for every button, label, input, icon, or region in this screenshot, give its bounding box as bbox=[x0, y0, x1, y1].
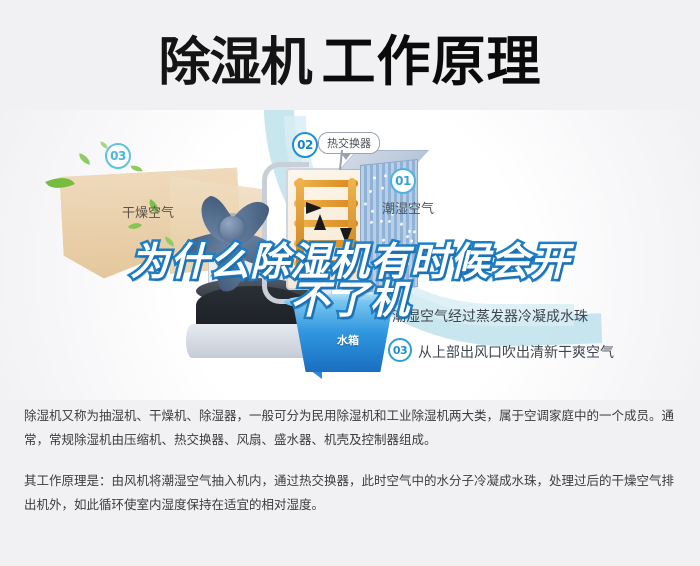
marker-03-top: 03 bbox=[105, 143, 131, 169]
coil-riser bbox=[296, 178, 304, 274]
page-header: 除湿机 工作原理 bbox=[0, 22, 700, 102]
condensation-droplet bbox=[368, 272, 371, 275]
condensation-droplet bbox=[373, 176, 376, 179]
marker-01: 01 bbox=[390, 168, 416, 194]
condensation-droplet bbox=[370, 221, 373, 224]
marker-03-bottom: 03 bbox=[388, 338, 412, 362]
flow-arrow-up-icon bbox=[314, 214, 326, 230]
condensation-droplet bbox=[384, 251, 387, 254]
flow-arrow-right-icon bbox=[306, 202, 322, 214]
coil-riser bbox=[348, 178, 356, 274]
humid-air-label: 潮湿空气 bbox=[382, 198, 434, 217]
condensation-droplet bbox=[406, 262, 409, 265]
condensation-droplet bbox=[413, 230, 416, 233]
water-tank-label: 水箱 bbox=[318, 332, 378, 348]
condensation-droplet bbox=[371, 210, 374, 213]
condensation-droplet bbox=[408, 230, 411, 233]
explanation-outflow: 从上部出风口吹出清新干爽空气 bbox=[418, 342, 614, 362]
leaf-icon bbox=[77, 153, 92, 165]
article-body: 除湿机又称为抽湿机、干燥机、除湿器，一般可分为民用除湿机和工业除湿机两大类，属于… bbox=[0, 404, 700, 532]
infographic-page: 除湿机 工作原理 bbox=[0, 0, 700, 566]
condensation-droplet bbox=[405, 279, 408, 282]
condensation-droplet bbox=[393, 264, 396, 267]
condensation-droplet bbox=[364, 203, 367, 206]
body-paragraph-1: 除湿机又称为抽湿机、干燥机、除湿器，一般可分为民用除湿机和工业除湿机两大类，属于… bbox=[24, 404, 676, 453]
page-title-secondary: 工作原理 bbox=[322, 35, 542, 89]
fan-icon bbox=[176, 172, 288, 284]
flow-arrow-down-icon bbox=[340, 228, 352, 244]
marker-02: 02 bbox=[292, 132, 318, 158]
condensation-droplet bbox=[381, 187, 384, 190]
explanation-condensation: 潮湿空气经过蒸发器冷凝成水珠 bbox=[392, 306, 588, 326]
condensation-droplet bbox=[380, 220, 383, 223]
page-title: 除湿机 工作原理 bbox=[158, 35, 541, 89]
dehumidifier-diagram: 水箱 03 02 01 热交换器 干燥空气 潮湿空气 潮湿空气经过蒸发器冷凝成水… bbox=[0, 110, 700, 400]
page-title-primary: 除湿机 bbox=[158, 37, 311, 89]
condensation-droplet bbox=[369, 190, 372, 193]
condensation-droplet bbox=[382, 238, 385, 241]
condensation-droplet bbox=[384, 174, 387, 177]
leaf-icon bbox=[131, 164, 143, 172]
heat-exchanger-callout: 热交换器 bbox=[318, 132, 380, 154]
body-paragraph-2: 其工作原理是：由风机将潮湿空气抽入机内，通过热交换器，此时空气中的水分子冷凝成水… bbox=[24, 469, 676, 518]
condensation-droplet bbox=[400, 222, 403, 225]
condensation-droplet bbox=[388, 219, 391, 222]
condensation-droplet bbox=[406, 234, 409, 237]
condensation-droplet bbox=[402, 259, 405, 262]
dry-air-label: 干燥空气 bbox=[122, 202, 174, 221]
condensation-droplet bbox=[410, 239, 413, 242]
fan-hub bbox=[220, 216, 244, 240]
